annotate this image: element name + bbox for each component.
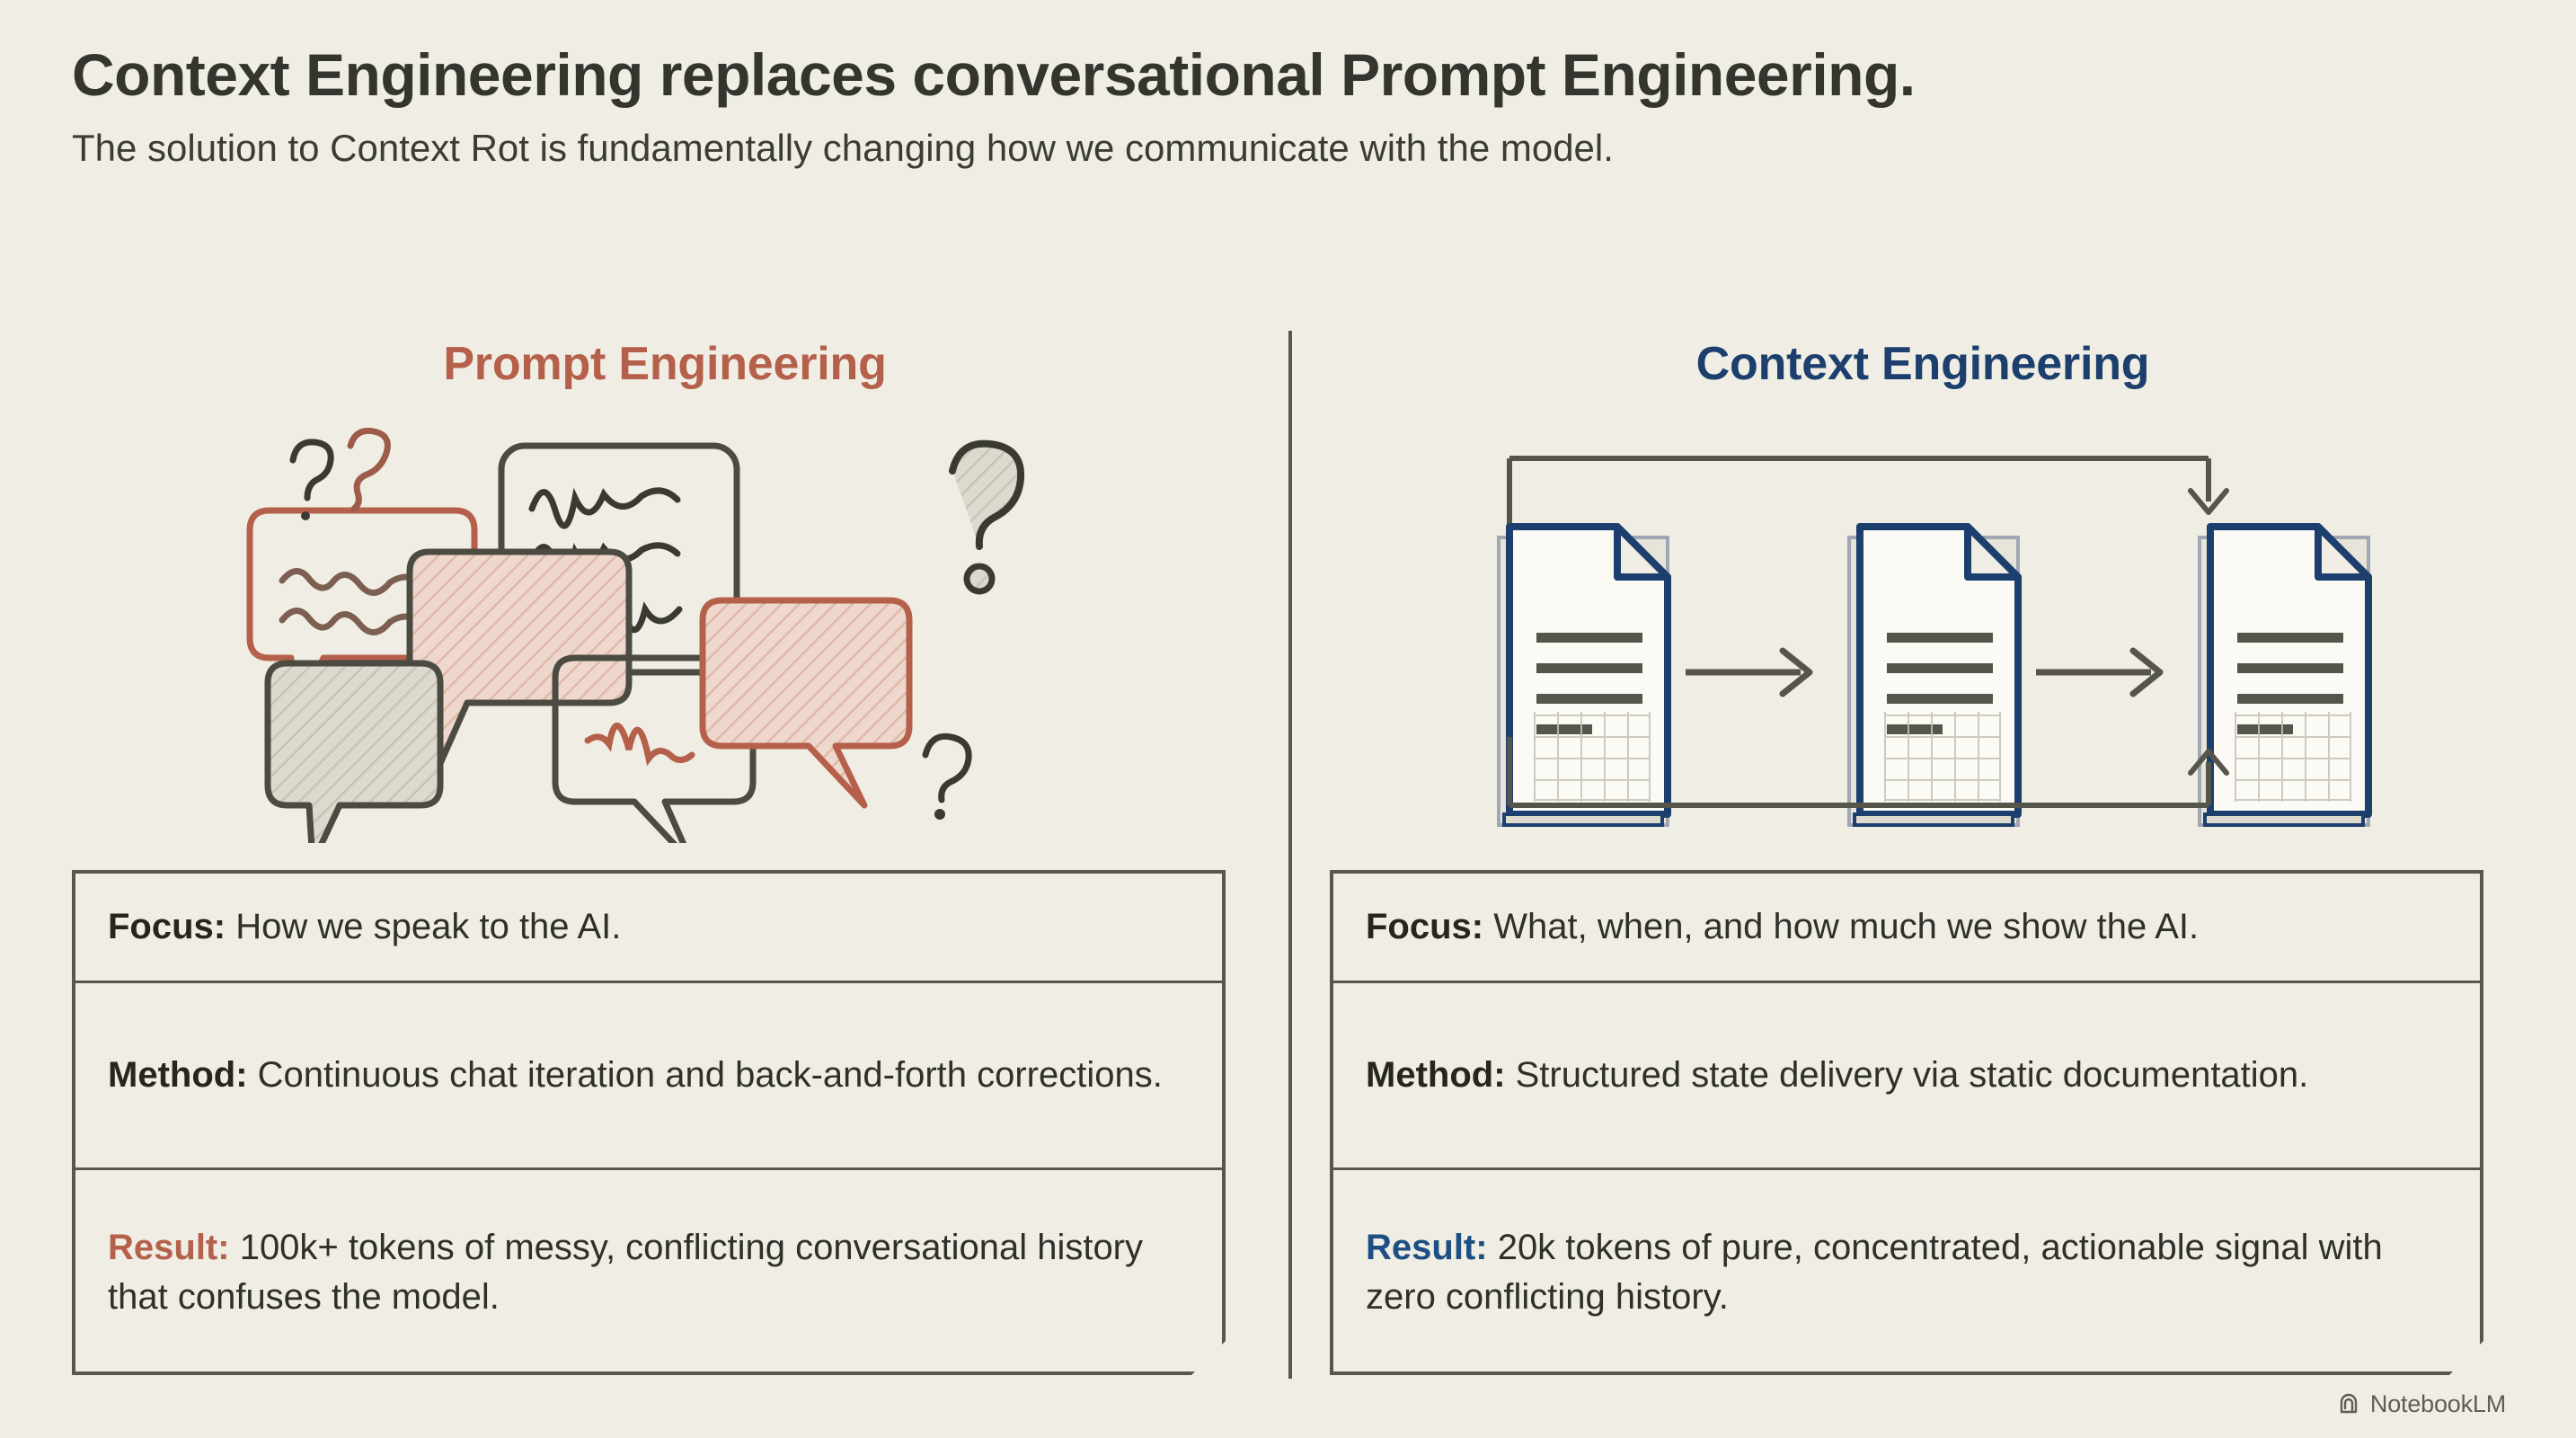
illustration-document-pipeline — [1330, 421, 2516, 843]
infographic-canvas: Context Engineering replaces conversatio… — [0, 0, 2576, 1438]
notebooklm-spiral-icon — [2336, 1392, 2361, 1417]
card-row-focus: Focus: What, when, and how much we show … — [1333, 874, 2480, 983]
row-result-value: 100k+ tokens of messy, conflicting conve… — [108, 1228, 1143, 1317]
speech-bubble-hatched-bottom-left — [268, 663, 440, 843]
column-heading-context-engineering: Context Engineering — [1330, 333, 2516, 395]
column-heading-prompt-engineering: Prompt Engineering — [72, 333, 1258, 395]
column-divider — [1288, 331, 1292, 1379]
row-focus-value: What, when, and how much we show the AI. — [1483, 907, 2199, 946]
row-method-text: Method: Continuous chat iteration and ba… — [108, 1051, 1163, 1100]
row-focus-text: Focus: What, when, and how much we show … — [1366, 902, 2199, 952]
row-method-label: Method: — [108, 1055, 248, 1095]
document-icon-2 — [1849, 527, 2018, 825]
card-row-method: Method: Structured state delivery via st… — [1333, 983, 2480, 1170]
row-focus-value: How we speak to the AI. — [226, 907, 621, 946]
row-result-label: Result: — [1366, 1228, 1488, 1267]
row-focus-label: Focus: — [108, 907, 226, 946]
row-focus-text: Focus: How we speak to the AI. — [108, 902, 621, 952]
row-result-text: Result: 20k tokens of pure, concentrated… — [1366, 1223, 2448, 1322]
illustration-tangled-speech-bubbles — [72, 421, 1258, 843]
row-method-text: Method: Structured state delivery via st… — [1366, 1051, 2308, 1100]
header: Context Engineering replaces conversatio… — [72, 43, 2516, 171]
page-title: Context Engineering replaces conversatio… — [72, 43, 2516, 107]
watermark-label: NotebookLM — [2370, 1390, 2506, 1418]
card-row-result: Result: 20k tokens of pure, concentrated… — [1333, 1170, 2480, 1375]
question-mark-bottom-dark — [925, 736, 969, 820]
comparison-card-context-engineering: Focus: What, when, and how much we show … — [1330, 870, 2483, 1375]
row-result-value: 20k tokens of pure, concentrated, action… — [1366, 1228, 2383, 1317]
row-focus-label: Focus: — [1366, 907, 1483, 946]
row-result-text: Result: 100k+ tokens of messy, conflicti… — [108, 1223, 1190, 1322]
comparison-card-prompt-engineering: Focus: How we speak to the AI. Method: C… — [72, 870, 1226, 1375]
flow-arrow-2 — [2036, 651, 2160, 694]
document-icon-1 — [1499, 527, 1668, 825]
flow-arrow-1 — [1686, 651, 1810, 694]
row-result-label: Result: — [108, 1228, 230, 1267]
column-context-engineering: Context Engineering — [1330, 333, 2516, 843]
row-method-label: Method: — [1366, 1055, 1506, 1095]
watermark: NotebookLM — [2336, 1390, 2506, 1418]
card-row-method: Method: Continuous chat iteration and ba… — [75, 983, 1222, 1170]
document-icon-3 — [2200, 527, 2368, 825]
card-row-focus: Focus: How we speak to the AI. — [75, 874, 1222, 983]
speech-bubble-hatched-right — [703, 600, 909, 805]
row-method-value: Structured state delivery via static doc… — [1506, 1055, 2309, 1095]
question-mark-large-hatched — [952, 444, 1021, 591]
card-row-result: Result: 100k+ tokens of messy, conflicti… — [75, 1170, 1222, 1375]
page-subtitle: The solution to Context Rot is fundament… — [72, 127, 2516, 170]
row-method-value: Continuous chat iteration and back-and-f… — [248, 1055, 1163, 1095]
column-prompt-engineering: Prompt Engineering — [72, 333, 1258, 843]
question-mark-small-red — [350, 431, 387, 509]
